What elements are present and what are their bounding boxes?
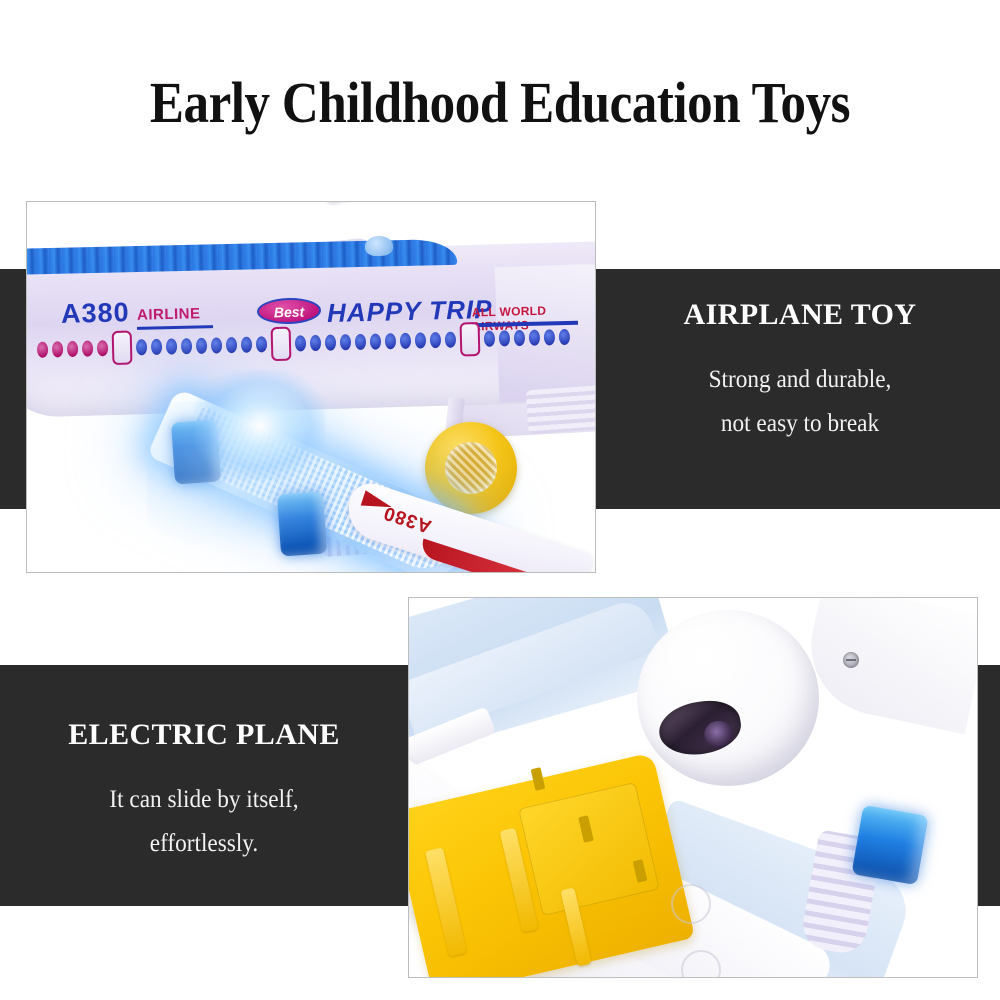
product-infographic: Early Childhood Education Toys A380 AIRL… xyxy=(0,0,1000,1000)
airplane-toy-subtitle-line-2: not easy to break xyxy=(614,402,986,446)
blue-engine-shape xyxy=(851,805,928,885)
airplane-toy-text-block: AIRPLANE TOY Strong and durable, not eas… xyxy=(600,298,1000,446)
electric-plane-subtitle-line-2: effortlessly. xyxy=(14,822,393,866)
electric-plane-subtitle-line-1: It can slide by itself, xyxy=(14,778,393,822)
livery-model-text: A380 xyxy=(61,297,130,330)
rear-flap-shape xyxy=(526,384,595,435)
electric-plane-heading: ELECTRIC PLANE xyxy=(0,718,408,752)
airplane-toy-photo-canvas: A380 AIRLINE Best HAPPY TRIP ALL WORLD A… xyxy=(27,202,595,572)
wheel-hub-shape xyxy=(445,442,497,494)
airplane-toy-subtitle-line-1: Strong and durable, xyxy=(614,358,986,402)
product-photo-airplane-toy: A380 AIRLINE Best HAPPY TRIP ALL WORLD A… xyxy=(26,201,596,573)
page-title: Early Childhood Education Toys xyxy=(60,72,940,134)
landing-gear-wheel-shape xyxy=(425,422,517,514)
product-photo-electric-plane xyxy=(408,597,978,978)
livery-airline-text: AIRLINE xyxy=(137,305,201,324)
molded-circle-1 xyxy=(671,884,711,924)
electric-plane-photo-canvas xyxy=(409,598,977,977)
tail-fin-shape xyxy=(323,202,569,204)
led-glow-core xyxy=(195,370,325,480)
cockpit-bubble-shape xyxy=(365,236,394,257)
electric-plane-text-block: ELECTRIC PLANE It can slide by itself, e… xyxy=(0,718,408,866)
assembly-screw-shape xyxy=(843,652,859,668)
airplane-toy-heading: AIRPLANE TOY xyxy=(600,298,1000,332)
nose-dome-shape xyxy=(637,610,819,786)
wing-model-marking-text: A380 xyxy=(381,501,435,537)
